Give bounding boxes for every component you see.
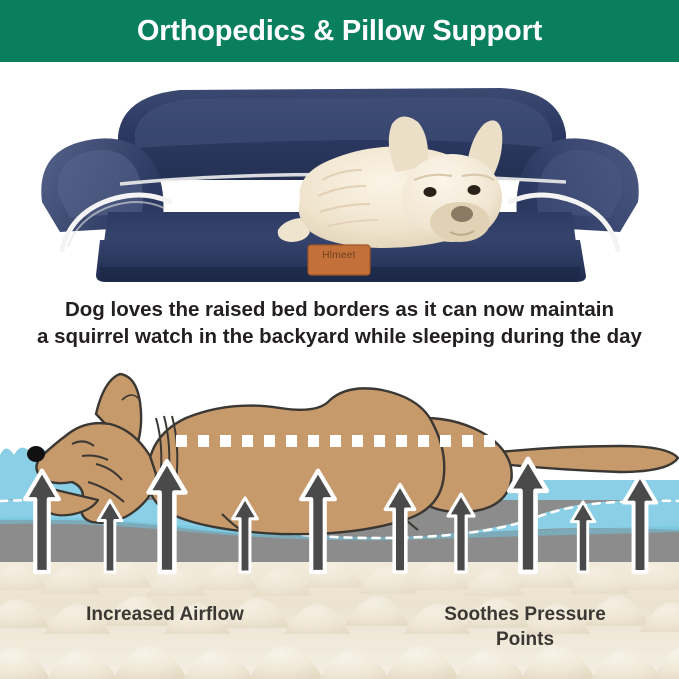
pressure-line-1: Soothes Pressure [410,602,640,627]
label-soothes-pressure-points: Soothes Pressure Points [410,602,640,652]
brand-tag-label: Hlmeet [308,250,370,261]
support-diagram: Increased Airflow Soothes Pressure Point… [0,360,679,679]
label-increased-airflow: Increased Airflow [40,602,290,627]
pressure-line-2: Points [410,627,640,652]
product-photo-area: Hlmeet [0,62,679,290]
page-title: Orthopedics & Pillow Support [137,15,542,48]
caption-line-2: a squirrel watch in the backyard while s… [0,323,679,350]
caption-line-1: Dog loves the raised bed borders as it c… [0,296,679,323]
header-banner: Orthopedics & Pillow Support [0,0,679,62]
caption-block: Dog loves the raised bed borders as it c… [0,296,679,358]
product-infographic-page: Orthopedics & Pillow Support [0,0,679,679]
